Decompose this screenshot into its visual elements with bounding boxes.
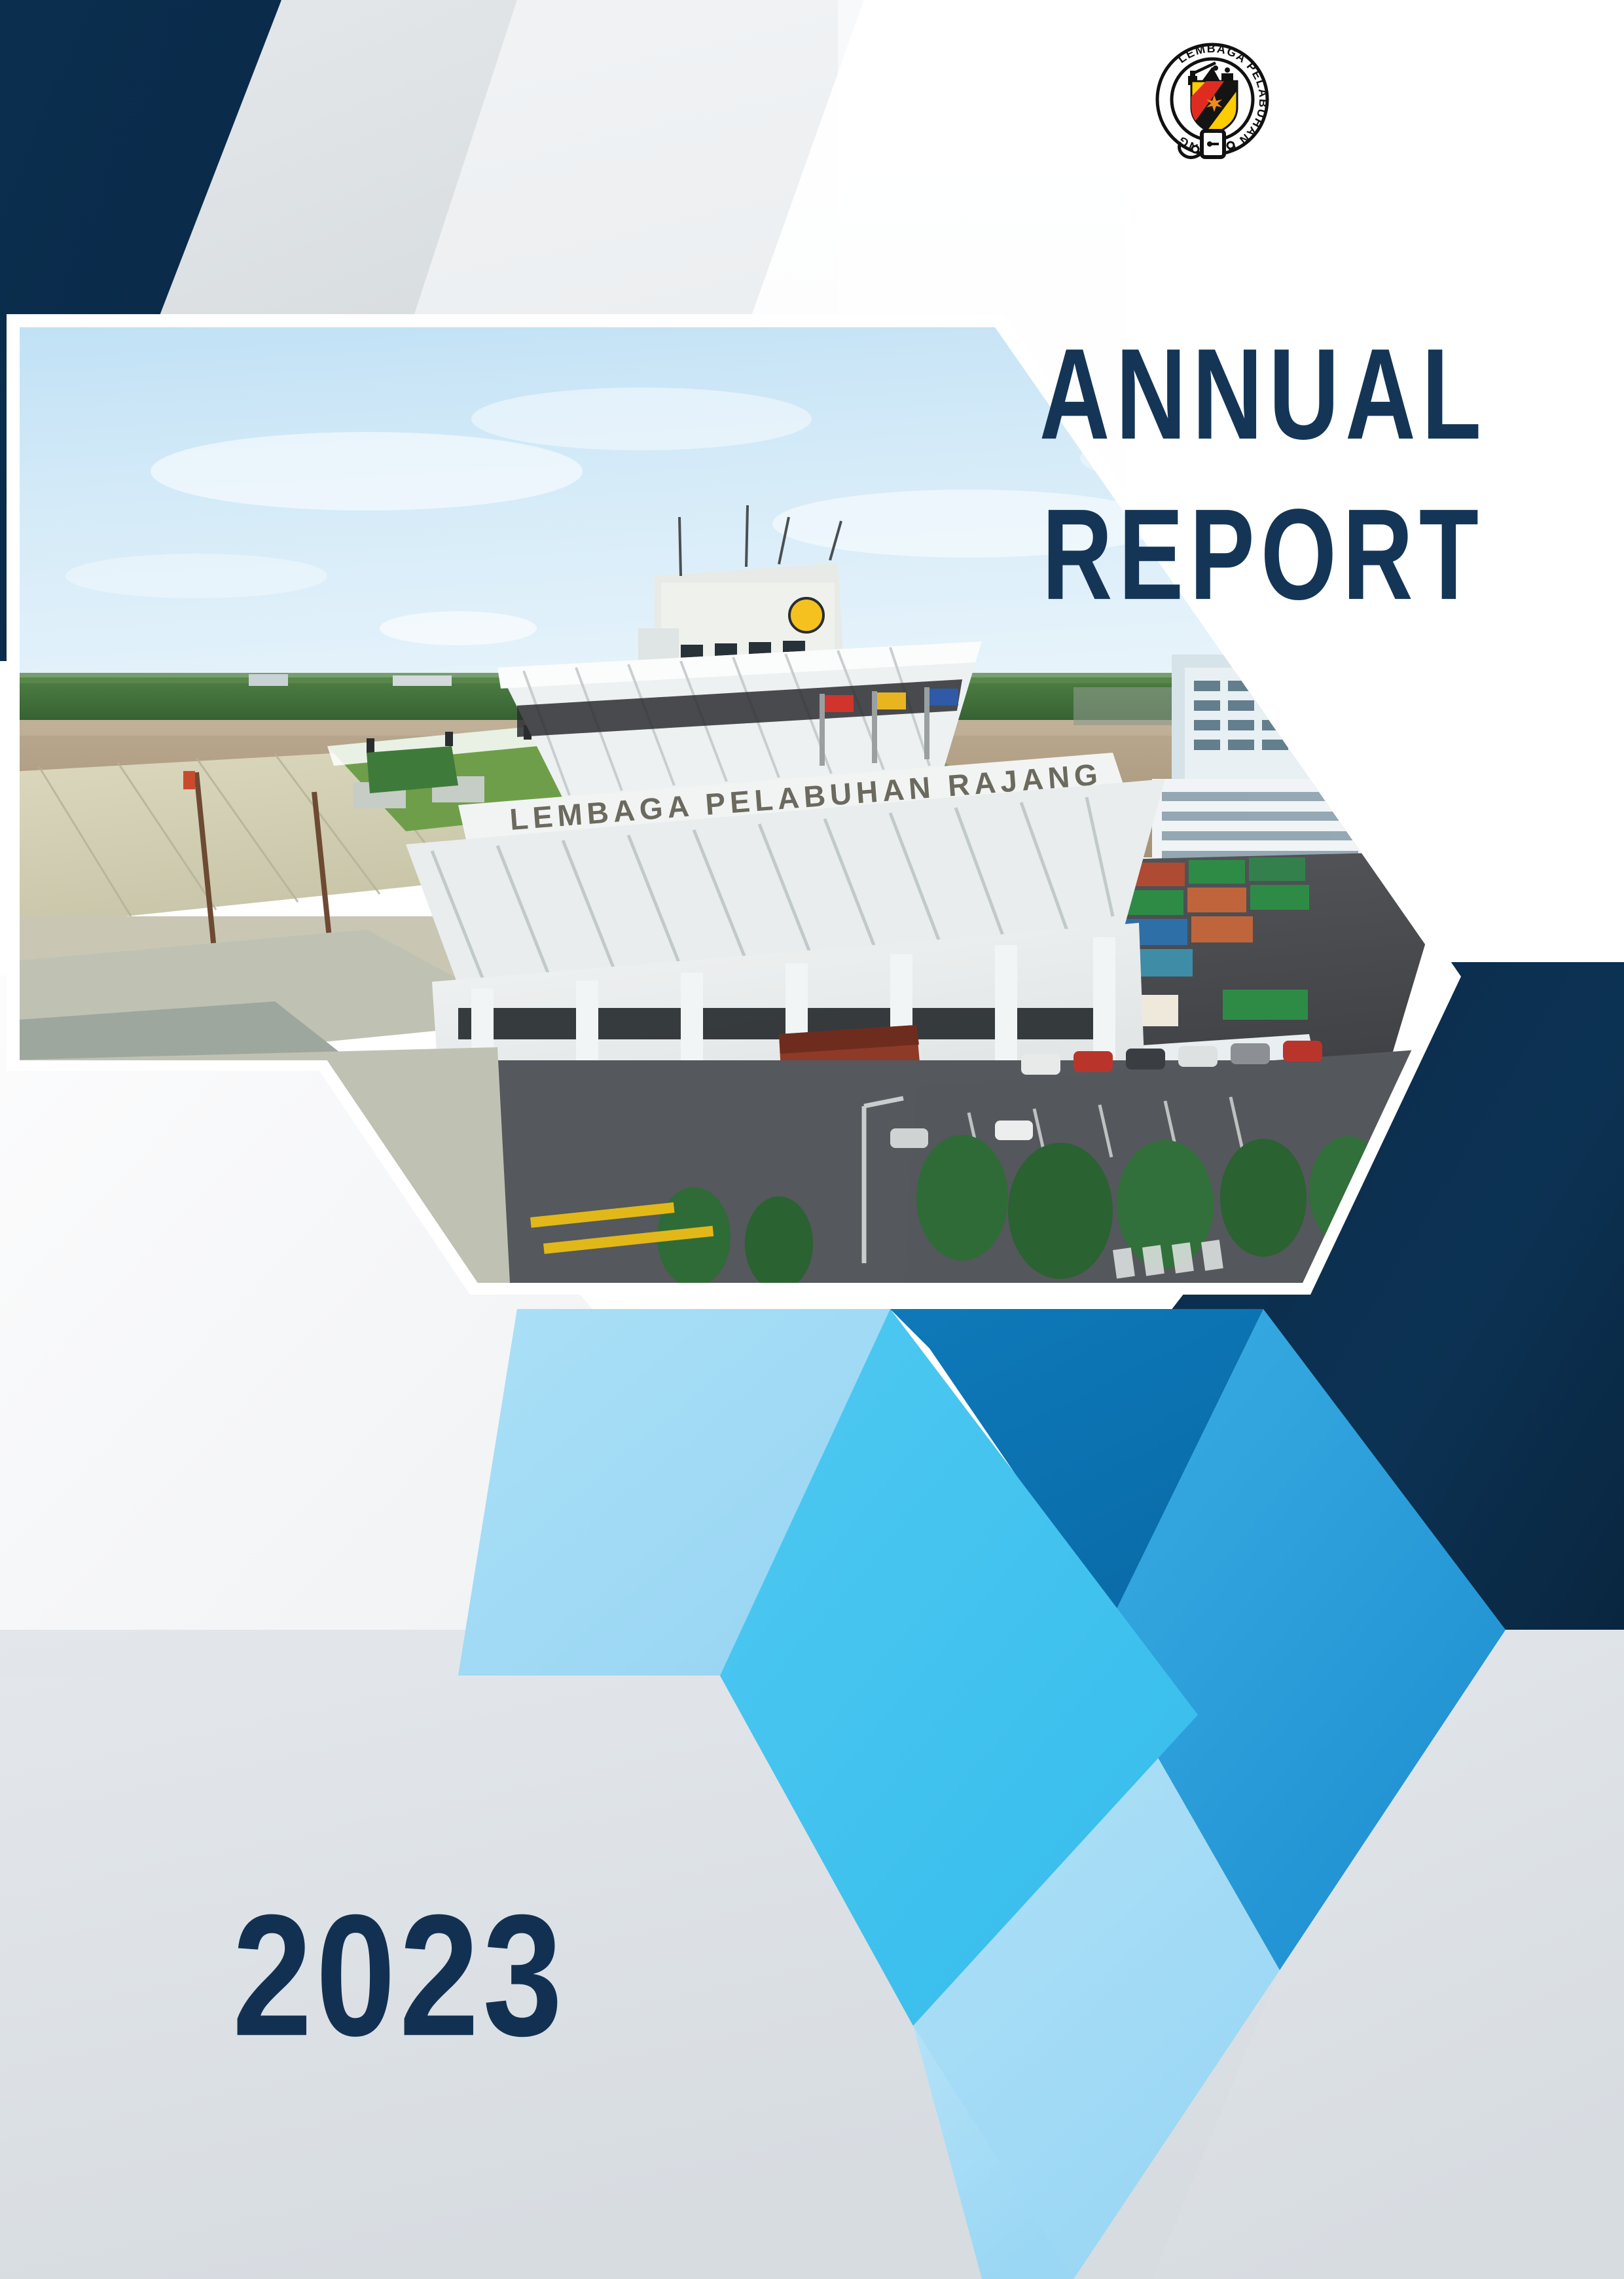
title-line-annual: ANNUAL (992, 308, 1534, 481)
title-line-report: REPORT (992, 468, 1534, 641)
padlock-body-icon (1202, 131, 1224, 157)
annual-report-cover: LEMBAGA PELABUHAN RAJANG (0, 0, 1624, 2279)
photo-hq-roof-crest (789, 598, 823, 632)
cover-year: 2023 (232, 1877, 566, 2075)
organization-logo: LEMBAGA PELABUHAN RAJANG (1147, 34, 1278, 171)
lembaga-pelabuhan-rajang-crest-icon: LEMBAGA PELABUHAN RAJANG (1147, 34, 1278, 171)
cover-title: ANNUAL REPORT (969, 308, 1558, 610)
